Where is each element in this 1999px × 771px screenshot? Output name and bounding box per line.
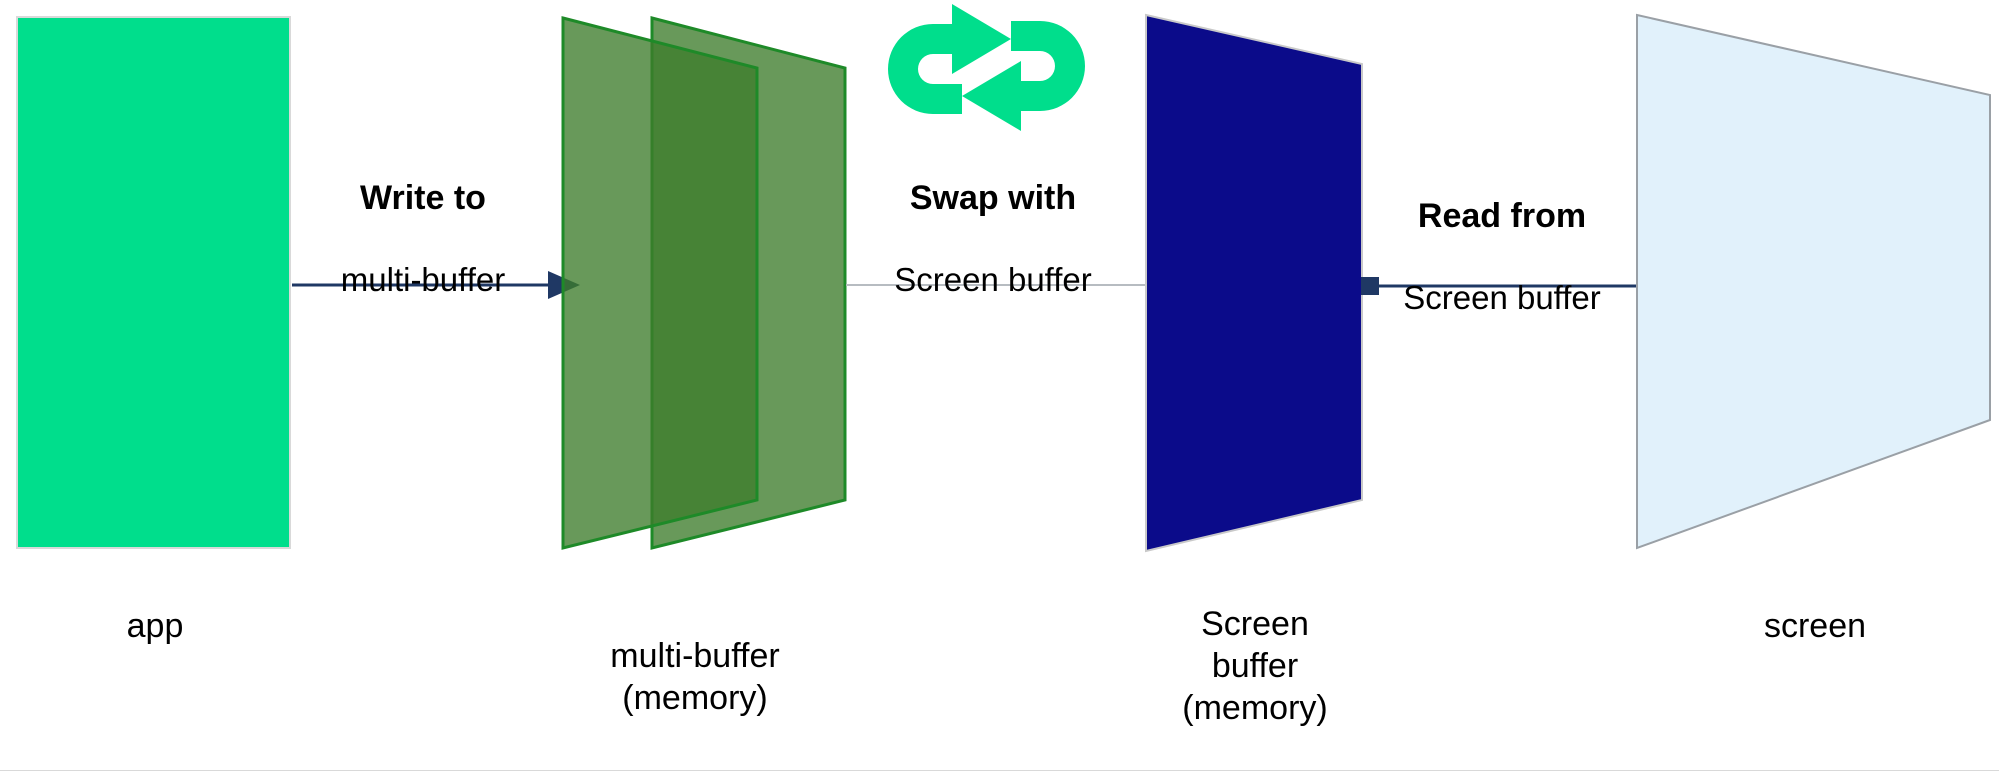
edge-label-read: Read from Screen buffer bbox=[1352, 154, 1652, 360]
edge-label-write-title: Write to bbox=[273, 177, 573, 219]
swap-loop-icon-shape-layer bbox=[0, 0, 1999, 771]
edge-label-read-subtitle: Screen buffer bbox=[1352, 278, 1652, 319]
node-label-app: app bbox=[25, 605, 285, 647]
node-label-screen-buffer: Screen buffer (memory) bbox=[1135, 603, 1375, 729]
node-label-screen: screen bbox=[1690, 605, 1940, 647]
edge-label-read-title: Read from bbox=[1352, 195, 1652, 237]
node-label-multi-buffer: multi-buffer (memory) bbox=[545, 635, 845, 719]
edge-label-swap-title: Swap with bbox=[843, 177, 1143, 219]
edge-label-write-subtitle: multi-buffer bbox=[273, 260, 573, 301]
edge-label-swap-subtitle: Screen buffer bbox=[843, 260, 1143, 301]
diagram-canvas: Write to multi-buffer Swap with Screen b… bbox=[0, 0, 1999, 771]
edge-label-swap: Swap with Screen buffer bbox=[843, 136, 1143, 342]
edge-label-write: Write to multi-buffer bbox=[273, 136, 573, 342]
